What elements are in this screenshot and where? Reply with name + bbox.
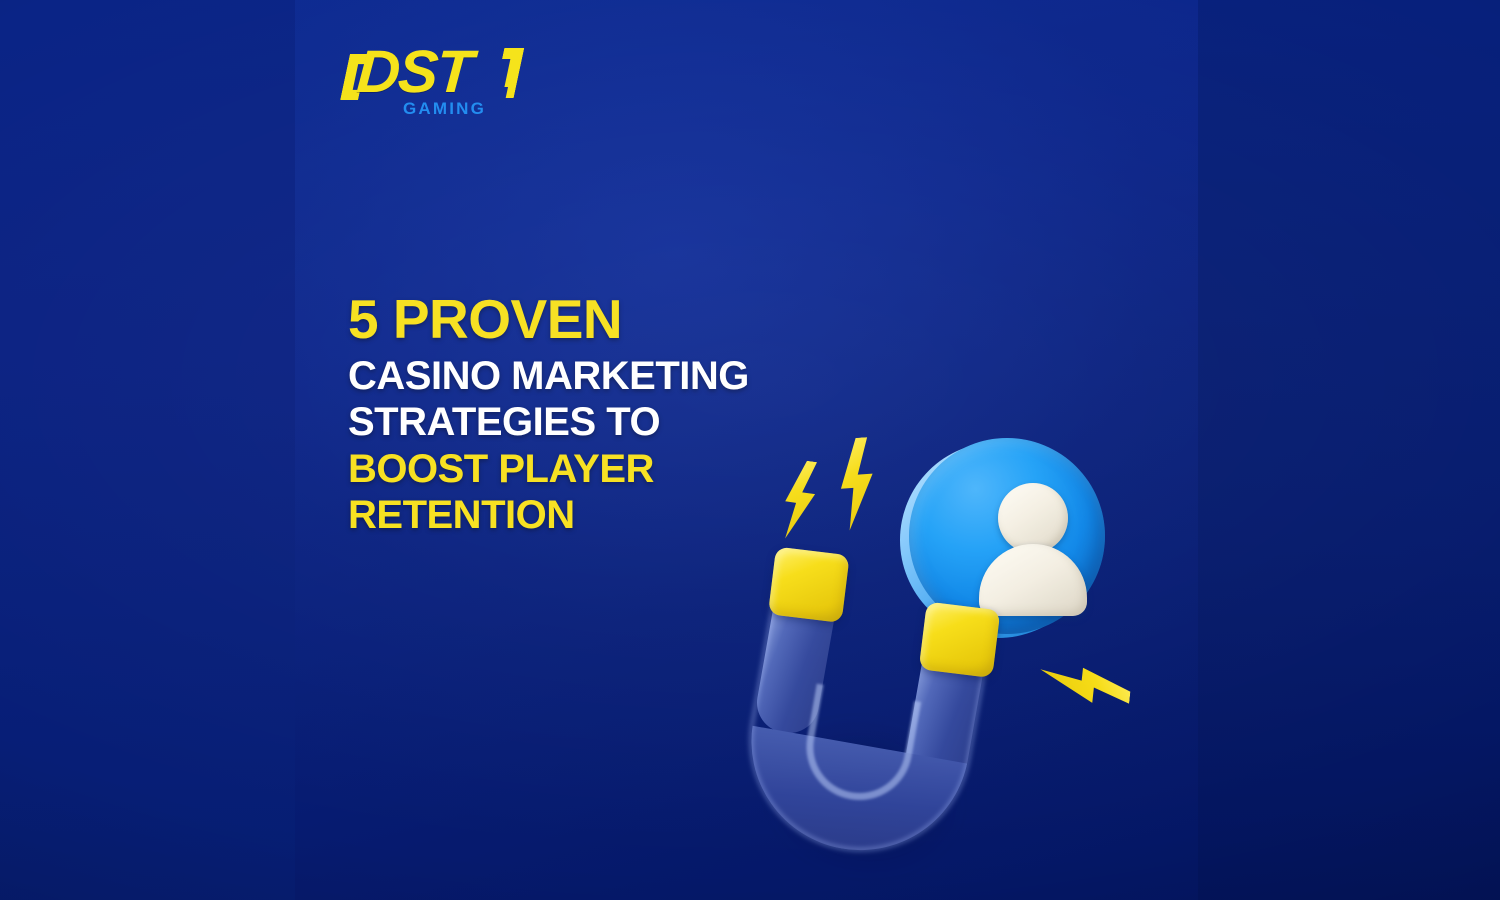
promo-banner: DST GAMING 5 PROVEN CASINO MARKETING STR… (0, 0, 1500, 900)
horseshoe-magnet-icon (703, 556, 1064, 900)
magnet-tip-left (768, 547, 850, 624)
magnet-tip-right (919, 602, 1001, 679)
background-right-band (1198, 0, 1500, 900)
brand-logo[interactable]: DST GAMING (339, 42, 534, 126)
lightning-bolt-icon (829, 436, 883, 531)
logo-wordmark: DST (355, 42, 473, 102)
logo-subtitle: GAMING (403, 100, 486, 117)
magnet-attracting-player-illustration (720, 400, 1200, 900)
bracket-right-icon (494, 48, 525, 98)
lightning-bolt-icon (773, 457, 826, 542)
headline-line-2: CASINO MARKETING (348, 356, 868, 396)
magnet-body (735, 579, 993, 863)
avatar-head-shape (998, 483, 1068, 553)
background-left-band (0, 0, 300, 900)
headline-line-1: 5 PROVEN (348, 292, 868, 347)
